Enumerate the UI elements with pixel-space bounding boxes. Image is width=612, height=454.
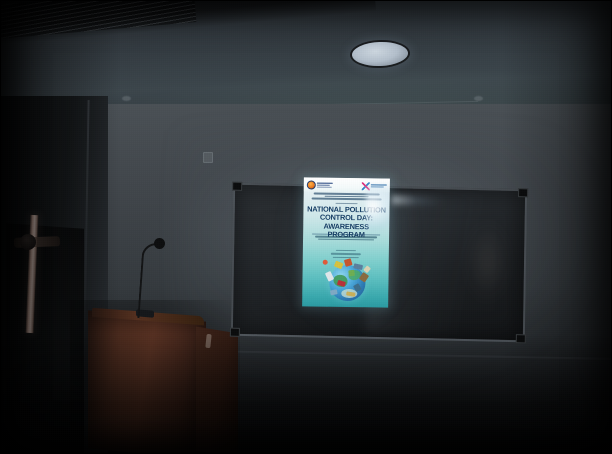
whiteboard-corner-bracket [518,188,528,197]
poster-credits-lines [321,250,371,259]
whiteboard-right-glow [467,222,509,302]
waste-item-icon [323,260,328,265]
waste-item-icon [348,270,355,277]
photo-scene: NATIONAL POLLUTION CONTROL DAY: AWARENES… [0,0,612,454]
poster-subheader-lines [310,192,384,204]
poster-event-details-lines [310,235,382,240]
university-seal-icon [307,180,316,189]
stand-adjustment-knob[interactable] [20,234,36,250]
wall-switch-plate[interactable] [203,152,213,163]
podium [88,310,206,454]
poster-logo-row [307,179,387,191]
partner-emblem-icon [362,182,370,190]
whiteboard-corner-bracket [230,328,240,337]
projected-poster: NATIONAL POLLUTION CONTROL DAY: AWARENES… [302,177,390,307]
whiteboard-corner-bracket [232,182,242,191]
dark-alcove-panel [6,223,84,454]
partner-name-lines [371,184,387,188]
partner-organisation-logo-icon [362,182,387,190]
university-emblem-logo-icon [307,180,333,189]
ceiling-hook-mark-left [122,96,131,101]
podium-side-panel [196,327,238,454]
whiteboard-corner-bracket [516,334,526,343]
university-name-lines [317,182,333,187]
microphone-head-icon[interactable] [154,238,165,249]
